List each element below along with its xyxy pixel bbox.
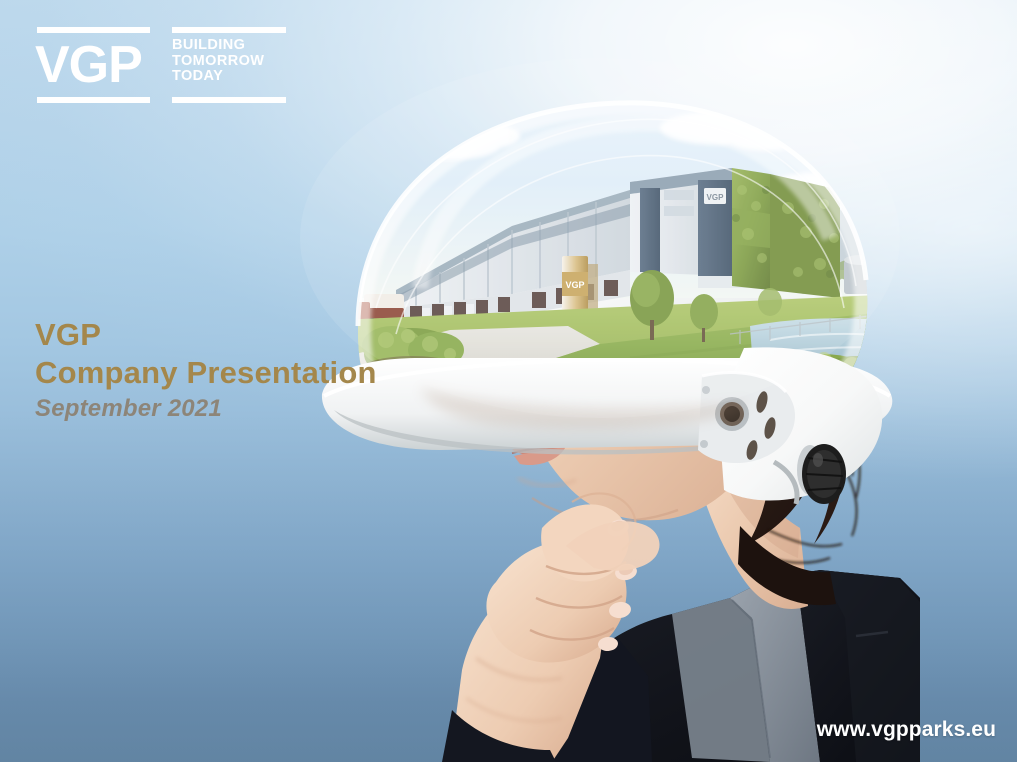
background-shade-overlay [0,411,1017,762]
green-living-wall [732,168,840,298]
vgp-logo-tagline: BUILDING TOMORROW TODAY [172,27,286,103]
shrubs-right [758,352,894,406]
eye [530,342,584,369]
logo-rule-bottom-left [37,97,150,103]
hand [442,493,660,762]
tagline-line-1: BUILDING [172,38,264,54]
tagline-lines: BUILDING TOMORROW TODAY [172,38,264,85]
lips [512,441,568,465]
ratchet-knob [797,444,846,504]
page-title-line-1: VGP [35,316,455,354]
logo-rule-bottom-right [172,97,286,103]
svg-text:VGP: VGP [707,193,725,202]
retention-pond [750,318,900,366]
face [503,248,768,521]
tagline-line-2: TOMORROW [172,54,264,70]
hard-hat: VGP [322,88,900,504]
car [546,310,572,329]
logo-rule-top-right [172,27,286,33]
neck [692,446,808,609]
hair [630,251,860,605]
page-title-line-2: Company Presentation [35,354,455,392]
website-url[interactable]: www.vgpparks.eu [817,718,996,742]
vgp-wordmark: VGP [35,35,142,95]
vgp-pylon-sign: VGP [562,256,598,340]
title-block: VGP Company Presentation September 2021 [35,316,455,424]
trees [630,270,782,342]
tagline-line-3: TODAY [172,69,264,85]
helmet-suspension [698,347,882,504]
logo-rule-top-left [37,27,150,33]
vgp-logo-mark: VGP [37,27,150,103]
vgp-logo: VGP BUILDING TOMORROW TODAY [37,27,289,103]
building-vgp-sign: VGP [704,188,726,204]
lawn [450,310,900,398]
svg-text:VGP: VGP [565,280,584,290]
title-slide: VGP [0,0,1017,762]
presentation-date: September 2021 [35,394,455,424]
storage-tanks [800,248,878,294]
warehouse-building: VGP [396,168,732,308]
